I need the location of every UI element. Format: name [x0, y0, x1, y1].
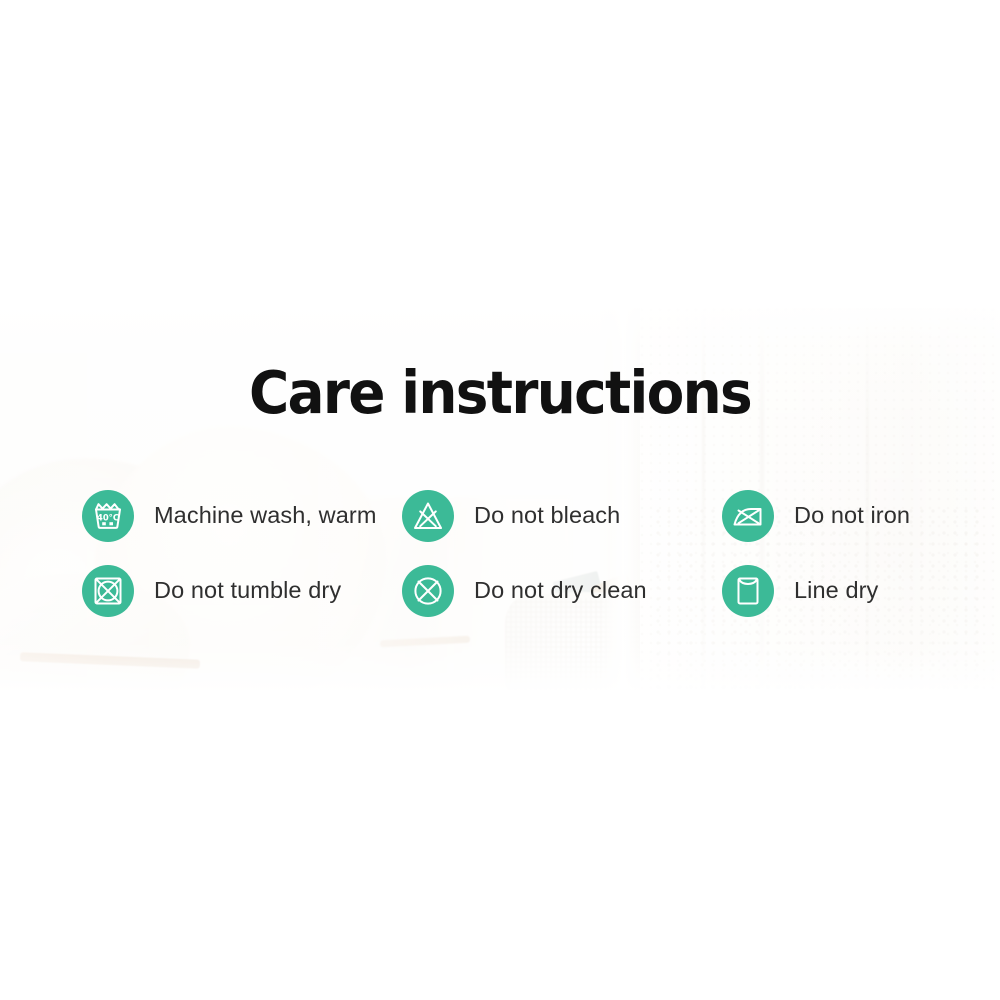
care-instructions-banner: Care instructions 40°C Machine wash,: [0, 0, 1000, 1000]
care-item-line-dry: Line dry: [722, 565, 962, 617]
care-item-label: Do not bleach: [474, 502, 620, 529]
do-not-bleach-icon: [402, 490, 454, 542]
care-item-label: Machine wash, warm: [154, 502, 377, 529]
line-dry-icon: [722, 565, 774, 617]
do-not-iron-icon: [722, 490, 774, 542]
care-item-label: Do not iron: [794, 502, 910, 529]
care-item-label: Line dry: [794, 577, 878, 604]
machine-wash-40c-icon: 40°C: [82, 490, 134, 542]
care-row: Do not tumble dry Do not dry clean: [82, 553, 962, 628]
do-not-tumble-dry-icon: [82, 565, 134, 617]
care-item-label: Do not tumble dry: [154, 577, 341, 604]
care-item-do-not-iron: Do not iron: [722, 490, 962, 542]
care-item-machine-wash: 40°C Machine wash, warm: [82, 490, 402, 542]
svg-text:40°C: 40°C: [97, 512, 119, 522]
care-item-label: Do not dry clean: [474, 577, 647, 604]
care-row: 40°C Machine wash, warm: [82, 478, 962, 553]
care-item-do-not-bleach: Do not bleach: [402, 490, 722, 542]
care-item-do-not-tumble-dry: Do not tumble dry: [82, 565, 402, 617]
care-item-do-not-dry-clean: Do not dry clean: [402, 565, 722, 617]
page-title: Care instructions: [35, 362, 965, 424]
do-not-dry-clean-icon: [402, 565, 454, 617]
care-symbol-grid: 40°C Machine wash, warm: [82, 478, 962, 628]
